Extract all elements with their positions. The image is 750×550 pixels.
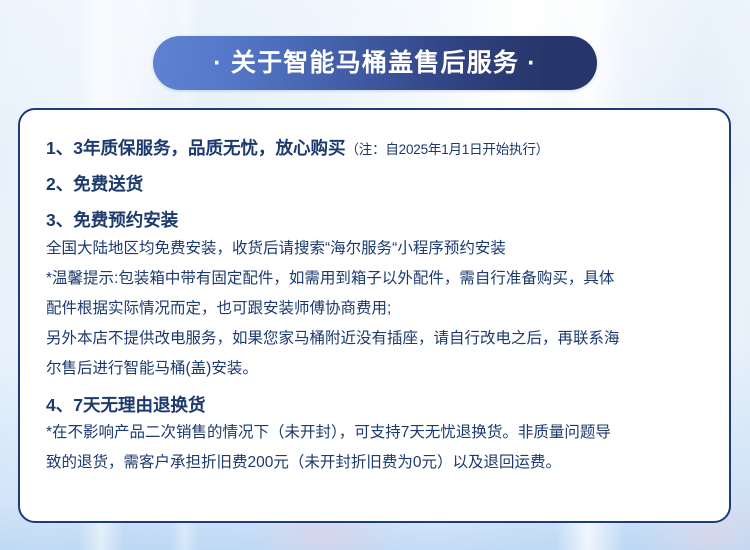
policy-item-free-delivery-heading: 2、免费送货 (46, 174, 143, 194)
policy-item-warranty-note: （注：自2025年1月1日开始执行） (345, 142, 548, 157)
after-sales-info-card: 1、3年质保服务，品质无忧，放心购买（注：自2025年1月1日开始执行） 2、免… (18, 108, 731, 523)
policy-item-warranty-heading: 1、3年质保服务，品质无忧，放心购买 (46, 138, 345, 158)
install-body-line-2: *温馨提示:包装箱中带有固定配件，如需用到箱子以外配件，需自行准备购买，具体 (46, 268, 703, 290)
return-body-line-2: 致的退货，需客户承担折旧费200元（未开封折旧费为0元）以及退回运费。 (46, 452, 703, 474)
policy-item-free-installation-heading: 3、免费预约安装 (46, 210, 178, 230)
section-title-banner: · 关于智能马桶盖售后服务 · (153, 36, 597, 90)
page-root: · 关于智能马桶盖售后服务 · 1、3年质保服务，品质无忧，放心购买（注：自20… (0, 0, 750, 550)
install-body-line-3: 配件根据实际情况而定，也可跟安装师傅协商费用; (46, 298, 703, 320)
page-title: · 关于智能马桶盖售后服务 · (213, 51, 537, 76)
policy-item-free-installation: 3、免费预约安装 (46, 208, 703, 233)
install-body-line-1: 全国大陆地区均免费安装，收货后请搜索“海尔服务“小程序预约安装 (46, 238, 703, 260)
install-body-line-5: 尔售后进行智能马桶(盖)安装。 (46, 358, 703, 380)
return-body-line-1: *在不影响产品二次销售的情况下（未开封），可支持7天无忧退换货。非质量问题导 (46, 422, 703, 444)
policy-item-return-policy-heading: 4、7天无理由退换货 (46, 395, 205, 415)
install-body-line-4: 另外本店不提供改电服务，如果您家马桶附近没有插座，请自行改电之后，再联系海 (46, 328, 703, 350)
policy-item-return-policy: 4、7天无理由退换货 (46, 393, 703, 418)
policy-item-warranty: 1、3年质保服务，品质无忧，放心购买（注：自2025年1月1日开始执行） (46, 136, 703, 161)
policy-item-free-delivery: 2、免费送货 (46, 172, 703, 197)
